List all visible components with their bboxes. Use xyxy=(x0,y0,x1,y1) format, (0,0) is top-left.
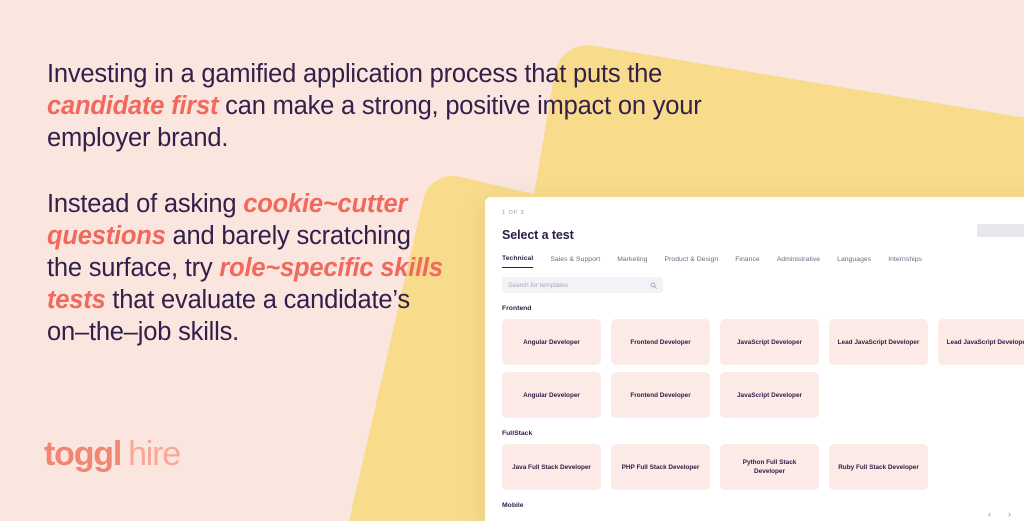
card-row: Angular DeveloperFrontend DeveloperJavaS… xyxy=(502,319,1024,365)
test-template-card[interactable]: Lead JavaScript Developer xyxy=(829,319,928,365)
test-template-card[interactable]: Java Full Stack Developer xyxy=(502,444,601,490)
header-placeholder-bar xyxy=(977,224,1024,237)
test-template-card[interactable]: Angular Developer xyxy=(502,319,601,365)
test-template-card[interactable]: Ruby Full Stack Developer xyxy=(829,444,928,490)
search-icon xyxy=(650,282,657,289)
test-template-card[interactable]: Lead JavaScript Developer xyxy=(938,319,1024,365)
chevron-right-icon[interactable]: › xyxy=(1008,510,1011,519)
logo-primary-word: toggl xyxy=(44,435,121,473)
test-template-label: Lead JavaScript Developer xyxy=(838,338,920,347)
paragraph-one: Investing in a gamified application proc… xyxy=(47,58,747,154)
test-template-label: Lead JavaScript Developer xyxy=(947,338,1024,347)
test-template-label: Python Full Stack Developer xyxy=(728,458,811,476)
test-template-card[interactable]: Python Full Stack Developer xyxy=(720,444,819,490)
card-row: Angular DeveloperFrontend DeveloperJavaS… xyxy=(502,372,1024,418)
slide-canvas: Investing in a gamified application proc… xyxy=(0,0,1024,521)
tab-administrative[interactable]: Administrative xyxy=(777,256,820,268)
tab-languages[interactable]: Languages xyxy=(837,256,871,268)
search-placeholder-text: Search for templates xyxy=(508,282,650,289)
tab-sales-support[interactable]: Sales & Support xyxy=(550,256,600,268)
toggl-hire-logo: togglhire xyxy=(44,435,180,474)
test-template-card[interactable]: JavaScript Developer xyxy=(720,372,819,418)
chevron-left-icon[interactable]: ‹ xyxy=(988,510,991,519)
test-template-label: Java Full Stack Developer xyxy=(512,463,591,472)
page-title: Select a test xyxy=(502,228,1024,242)
test-template-card[interactable]: PHP Full Stack Developer xyxy=(611,444,710,490)
paragraph-two: Instead of asking cookie~cutter question… xyxy=(47,188,447,348)
test-template-label: Frontend Developer xyxy=(630,391,690,400)
tab-internships[interactable]: Internships xyxy=(888,256,922,268)
tab-marketing[interactable]: Marketing xyxy=(617,256,647,268)
paragraph-two-text-before: Instead of asking xyxy=(47,190,243,218)
test-template-card[interactable]: JavaScript Developer xyxy=(720,319,819,365)
search-input[interactable]: Search for templates xyxy=(502,277,663,293)
section-heading-mobile: Mobile xyxy=(502,502,1024,509)
test-template-label: JavaScript Developer xyxy=(737,391,802,400)
card-row: Java Full Stack DeveloperPHP Full Stack … xyxy=(502,444,1024,490)
section-heading-fullstack: FullStack xyxy=(502,430,1024,437)
tab-finance[interactable]: Finance xyxy=(735,256,760,268)
test-template-card[interactable]: Frontend Developer xyxy=(611,372,710,418)
test-template-label: Angular Developer xyxy=(523,338,580,347)
template-sections: FrontendAngular DeveloperFrontend Develo… xyxy=(502,305,1024,509)
step-indicator: 1 OF 2 xyxy=(502,210,1024,216)
test-template-label: PHP Full Stack Developer xyxy=(622,463,700,472)
category-tabs: TechnicalSales & SupportMarketingProduct… xyxy=(502,255,1024,268)
test-template-label: Ruby Full Stack Developer xyxy=(838,463,919,472)
logo-secondary-word: hire xyxy=(128,435,180,473)
section-heading-frontend: Frontend xyxy=(502,305,1024,312)
marketing-copy: Investing in a gamified application proc… xyxy=(47,58,467,348)
tab-technical[interactable]: Technical xyxy=(502,255,533,268)
paragraph-one-accent: candidate first xyxy=(47,92,218,120)
paragraph-one-text-before: Investing in a gamified application proc… xyxy=(47,60,662,88)
test-template-label: Angular Developer xyxy=(523,391,580,400)
pager-controls: ‹ › xyxy=(988,510,1011,519)
test-template-label: JavaScript Developer xyxy=(737,338,802,347)
select-a-test-panel: 1 OF 2 Select a test TechnicalSales & Su… xyxy=(485,197,1024,521)
test-template-card[interactable]: Frontend Developer xyxy=(611,319,710,365)
test-template-label: Frontend Developer xyxy=(630,338,690,347)
test-template-card[interactable]: Angular Developer xyxy=(502,372,601,418)
tab-product-design[interactable]: Product & Design xyxy=(664,256,718,268)
